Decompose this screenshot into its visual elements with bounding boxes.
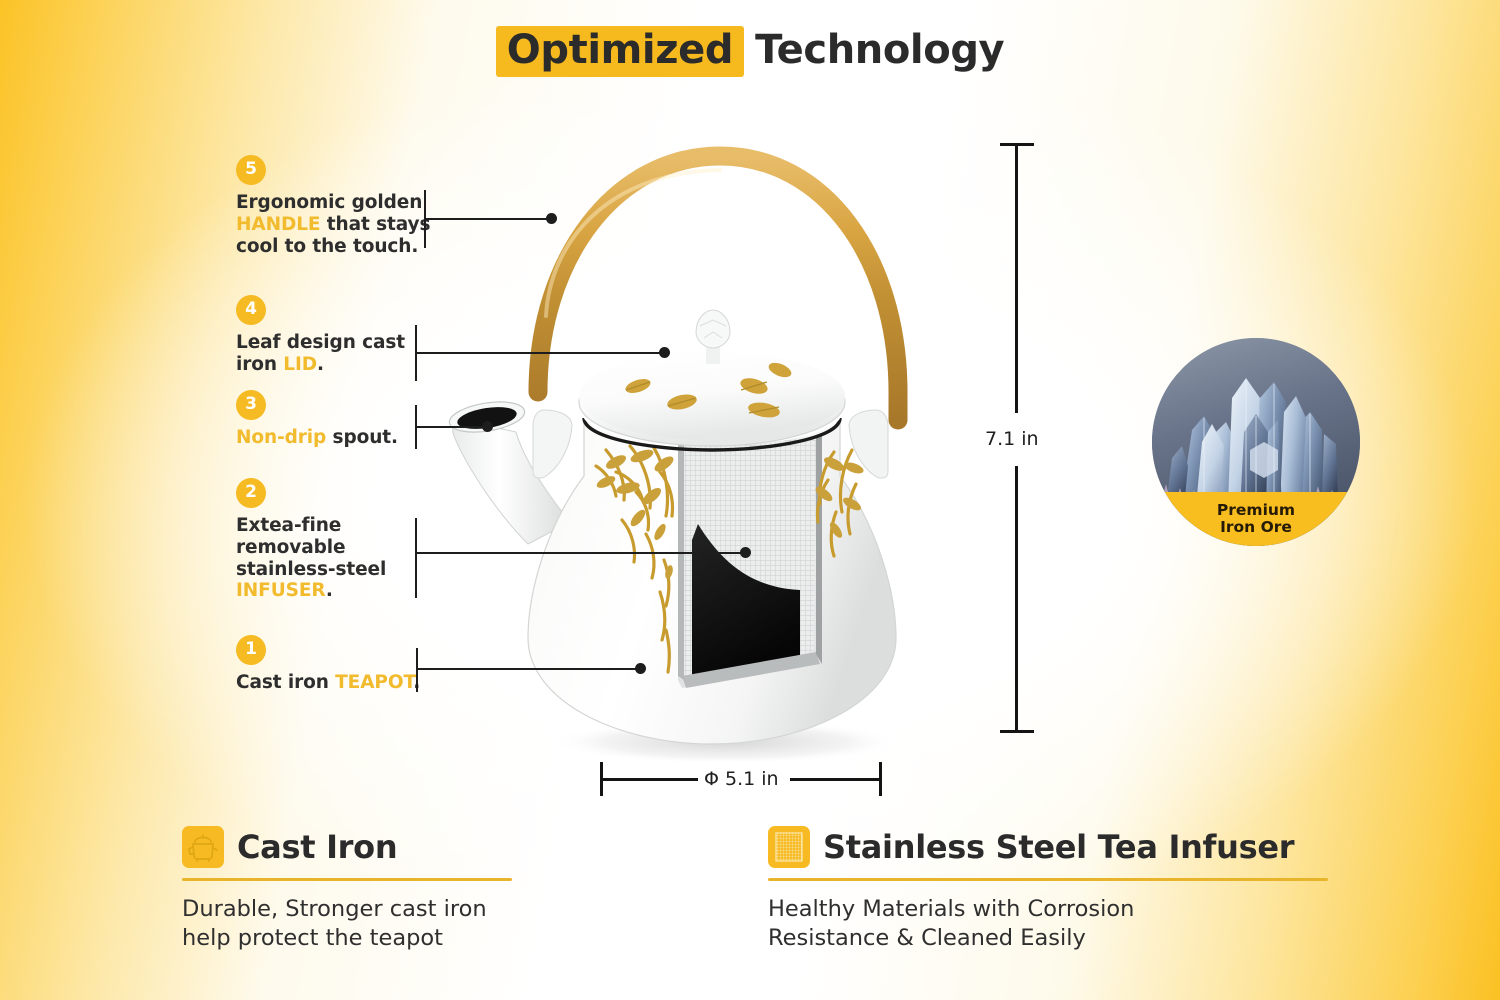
callout-2-line4b: .: [326, 580, 333, 601]
callout-2-line1: Extea-fine: [236, 515, 341, 536]
mesh-infuser-icon: [768, 826, 810, 868]
feature-cast-iron-desc: Durable, Stronger cast iron help protect…: [182, 895, 512, 953]
callout-1-text: Cast iron TEAPOT.: [236, 672, 451, 694]
callout-2-line3: stainless-steel: [236, 559, 386, 580]
callout-5: 5 Ergonomic golden HANDLE that stays coo…: [236, 155, 451, 257]
callout-1-keyword: TEAPOT: [335, 672, 413, 693]
callout-3: 3 Non-drip spout.: [236, 390, 451, 449]
feature-stainless-infuser-desc: Healthy Materials with Corrosion Resista…: [768, 895, 1328, 953]
callout-5-badge: 5: [236, 155, 266, 185]
callout-4-line2c: .: [317, 354, 324, 375]
callout-3-keyword: Non-drip: [236, 427, 326, 448]
feature-stainless-infuser-head: Stainless Steel Tea Infuser: [768, 826, 1328, 868]
callout-2-line2: removable: [236, 537, 345, 558]
diameter-dimension-label: Φ 5.1 in: [704, 768, 779, 790]
callout-1-line1a: Cast iron: [236, 672, 335, 693]
ore-badge-line1: Premium: [1217, 502, 1295, 519]
feature-cast-iron-head: Cast Iron: [182, 826, 512, 868]
page-title-rest: Technology: [744, 29, 1004, 72]
callout-4-keyword: LID: [283, 354, 317, 375]
height-dimension-label: 7.1 in: [985, 428, 1039, 450]
callout-2-badge: 2: [236, 478, 266, 508]
feature-stainless-infuser-title: Stainless Steel Tea Infuser: [823, 828, 1294, 866]
feature-stainless-infuser-rule: [768, 878, 1328, 881]
callout-2: 2 Extea-fine removable stainless-steel I…: [236, 478, 451, 602]
ore-badge-line2: Iron Ore: [1220, 519, 1292, 536]
callout-4-line2a: iron: [236, 354, 283, 375]
premium-iron-ore-badge: Premium Iron Ore: [1152, 338, 1360, 546]
callout-5-line1: Ergonomic golden: [236, 192, 422, 213]
callout-4-line1: Leaf design cast: [236, 332, 405, 353]
ore-badge-band: Premium Iron Ore: [1152, 492, 1360, 546]
callout-2-keyword: INFUSER: [236, 580, 326, 601]
callout-1-badge: 1: [236, 635, 266, 665]
callout-5-text: Ergonomic golden HANDLE that stays cool …: [236, 192, 451, 257]
feature-cast-iron-rule: [182, 878, 512, 881]
page-title-highlight: Optimized: [496, 26, 744, 77]
cast-iron-teapot-icon: [182, 826, 224, 868]
callout-5-line3: cool to the touch.: [236, 236, 418, 257]
callout-4-badge: 4: [236, 295, 266, 325]
infographic-page: OptimizedTechnology: [0, 0, 1500, 1000]
callout-3-text: Non-drip spout.: [236, 427, 451, 449]
page-title: OptimizedTechnology: [0, 26, 1500, 77]
callout-2-text: Extea-fine removable stainless-steel INF…: [236, 515, 451, 602]
callout-3-badge: 3: [236, 390, 266, 420]
callout-5-line2b: that stays: [320, 214, 430, 235]
callout-4: 4 Leaf design cast iron LID.: [236, 295, 451, 376]
callout-3-line1b: spout.: [326, 427, 398, 448]
feature-cast-iron: Cast Iron Durable, Stronger cast iron he…: [182, 826, 512, 953]
callout-5-keyword: HANDLE: [236, 214, 320, 235]
feature-stainless-infuser: Stainless Steel Tea Infuser Healthy Mate…: [768, 826, 1328, 953]
callout-1: 1 Cast iron TEAPOT.: [236, 635, 451, 694]
feature-cast-iron-title: Cast Iron: [237, 828, 397, 866]
